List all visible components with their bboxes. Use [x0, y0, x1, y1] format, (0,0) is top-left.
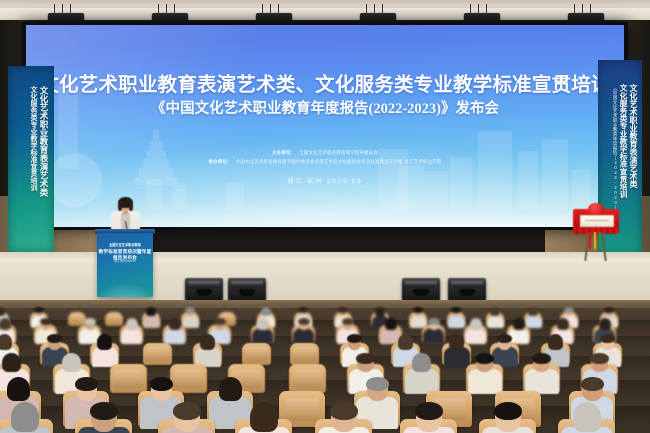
audience-member-hair: [126, 318, 138, 330]
audience-member-hair: [557, 318, 569, 330]
audience-member-hair: [257, 318, 269, 330]
audience-member-hair: [298, 318, 310, 325]
audience-member-hair: [84, 318, 96, 325]
podium-line-1: 全国文化艺术职业教育: [97, 242, 153, 247]
light-cable: [62, 4, 63, 15]
unveiling-stand: [573, 203, 619, 239]
audience-member-body: [143, 315, 160, 328]
audience-member-hair: [261, 307, 271, 316]
banner-left-text-primary: 文化艺术职业教育表演艺术类: [39, 86, 48, 197]
audience-member-hair: [573, 402, 601, 432]
audience-member-body: [423, 328, 444, 344]
audience-member-hair: [490, 307, 500, 316]
audience-member-hair: [7, 377, 30, 401]
audience-member-hair: [90, 402, 118, 420]
audience-member-body: [252, 328, 273, 344]
stage-monitor-speaker: [228, 278, 266, 301]
audience-member-hair: [600, 334, 615, 343]
light-cable: [574, 4, 575, 15]
unveiling-plaque: [580, 215, 614, 227]
audience-member-hair: [0, 318, 11, 330]
audience-member-body: [121, 328, 142, 344]
light-cable: [166, 4, 167, 15]
audience-chair: [290, 343, 319, 365]
banner-left: 文化艺术职业教育表演艺术类 文化服务类专业教学标准宣贯培训: [8, 66, 54, 252]
red-flower-icon: [588, 203, 604, 215]
light-cable: [486, 4, 487, 15]
audience-member-hair: [513, 318, 525, 330]
audience-member-hair: [219, 377, 242, 401]
audience-member-hair: [250, 402, 278, 432]
light-cable: [582, 4, 583, 15]
led-screen: 文化艺术职业教育表演艺术类、文化服务类专业教学标准宣贯培训 《中国文化艺术职业教…: [26, 25, 624, 227]
stage-monitor-speaker: [448, 278, 486, 301]
audience-chair: [170, 364, 207, 393]
audience-member-hair: [214, 318, 226, 325]
audience-member-hair: [412, 353, 431, 372]
audience-member-hair: [62, 353, 81, 372]
speaker-hair-side-left: [118, 202, 122, 211]
audience-member-hair: [356, 353, 375, 364]
audience-member-hair: [347, 334, 362, 343]
podium-line-3: 浙江·杭州 2025.06: [97, 259, 153, 263]
audience-member-hair: [385, 318, 397, 330]
light-cable: [174, 4, 175, 15]
audience-member-body: [293, 328, 314, 344]
audience-chair: [289, 364, 326, 393]
audience-member-hair: [475, 353, 494, 364]
audience-member-body: [487, 315, 504, 328]
light-cable: [158, 4, 159, 15]
audience-chair: [143, 343, 172, 365]
podium: 全国文化艺术职业教育 教学标准宣贯培训暨年度报告发布会 浙江·杭州 2025.0…: [97, 233, 153, 297]
audience-member-hair: [415, 402, 443, 420]
audience-member-hair: [173, 402, 201, 420]
audience-member-hair: [2, 353, 21, 372]
light-cable: [366, 4, 367, 15]
audience-member-hair: [47, 334, 62, 343]
banner-right-text-secondary: 文化服务类专业教学标准宣贯培训: [619, 84, 627, 198]
audience-member-hair: [0, 307, 5, 316]
light-cable: [374, 4, 375, 15]
audience-member-hair: [298, 307, 308, 313]
audience-member-hair: [532, 353, 551, 364]
conference-photo-scene: 文化艺术职业教育表演艺术类、文化服务类专业教学标准宣贯培训 《中国文化艺术职业教…: [0, 0, 650, 433]
light-cable: [54, 4, 55, 15]
audience-member-hair: [428, 318, 440, 325]
light-cable: [382, 4, 383, 15]
audience-member-hair: [564, 307, 574, 313]
audience-member-hair: [200, 334, 215, 350]
audience-member-hair: [604, 307, 614, 313]
light-cable: [478, 4, 479, 15]
screen-title-main: 文化艺术职业教育表演艺术类、文化服务类专业教学标准宣贯培训: [26, 68, 624, 97]
banner-left-text-secondary: 文化服务类专业教学标准宣贯培训: [30, 86, 37, 191]
organizer-label-2: 承办单位：: [209, 159, 232, 164]
audience-member-hair: [413, 307, 423, 313]
audience-member-hair: [398, 334, 413, 350]
audience-member-body: [182, 315, 199, 328]
unveiling-frill: [573, 227, 619, 234]
light-cable: [590, 4, 591, 15]
audience-member-hair: [330, 402, 358, 420]
light-cable: [262, 4, 263, 15]
audience-member-body: [448, 315, 465, 328]
audience-member-hair: [497, 334, 512, 343]
screen-venue-line: 浙江·杭州 2025.06: [26, 176, 624, 185]
stage-monitor-speaker: [185, 278, 223, 301]
audience-member-hair: [494, 402, 522, 420]
audience-member-hair: [75, 377, 98, 391]
audience-member-hair: [97, 334, 112, 350]
light-cable: [470, 4, 471, 15]
organizer-value-1: 全国文化艺术职业教育教学指导委员会: [299, 150, 378, 155]
audience-member-hair: [451, 307, 461, 313]
banner-right-text-primary: 文化艺术职业教育表演艺术类: [629, 84, 637, 188]
audience-member-hair: [146, 307, 156, 316]
audience-member-body: [468, 369, 502, 394]
audience-member-hair: [581, 377, 604, 391]
podium-glow: [97, 271, 153, 297]
screen-organizer-line-1: 主办单位：全国文化艺术职业教育教学指导委员会: [26, 150, 624, 156]
audience-member-body: [444, 347, 470, 367]
screen-title-sub: 《中国文化艺术职业教育年度报告(2022-2023)》发布会: [26, 97, 624, 118]
audience-chair: [110, 364, 147, 393]
light-cable: [70, 4, 71, 15]
audience-member-body: [465, 328, 486, 344]
audience-member-hair: [11, 402, 39, 432]
audience-member-hair: [590, 353, 609, 364]
audience-chair: [105, 312, 123, 326]
audience-member-hair: [375, 307, 385, 316]
organizer-label-1: 主办单位：: [272, 150, 295, 155]
light-cable: [270, 4, 271, 15]
audience-member-hair: [599, 318, 611, 330]
stage-monitor-speaker: [402, 278, 440, 301]
audience-member-hair: [470, 318, 482, 330]
audience-chair: [68, 312, 86, 326]
audience-member-hair: [0, 334, 12, 350]
screen-organizer-line-2: 承办单位：全国文化艺术职业教育教学指导委员会表演艺术及文化服务类专业标准建设工作…: [26, 159, 624, 165]
audience-member-body: [164, 328, 185, 344]
audience-member-hair: [528, 307, 538, 316]
audience-member-hair: [338, 307, 348, 313]
audience-chair: [242, 343, 271, 365]
speaker-hair-side-right: [129, 202, 133, 211]
organizer-value-2: 全国文化艺术职业教育教学指导委员会表演艺术及文化服务类专业标准建设工作组 浙江艺…: [236, 159, 442, 164]
audience-member-hair: [449, 334, 464, 350]
audience-member-hair: [34, 307, 44, 313]
audience-member-hair: [150, 377, 173, 391]
audience-member-hair: [169, 318, 181, 330]
screen-text-block: 文化艺术职业教育表演艺术类、文化服务类专业教学标准宣贯培训 《中国文化艺术职业教…: [26, 25, 624, 227]
audience-area: [0, 306, 650, 433]
light-cable: [278, 4, 279, 15]
audience-member-hair: [366, 377, 389, 391]
audience-member-hair: [185, 307, 195, 313]
audience-member-hair: [342, 318, 354, 325]
audience-member-hair: [548, 334, 563, 350]
audience-member-hair: [40, 318, 52, 325]
